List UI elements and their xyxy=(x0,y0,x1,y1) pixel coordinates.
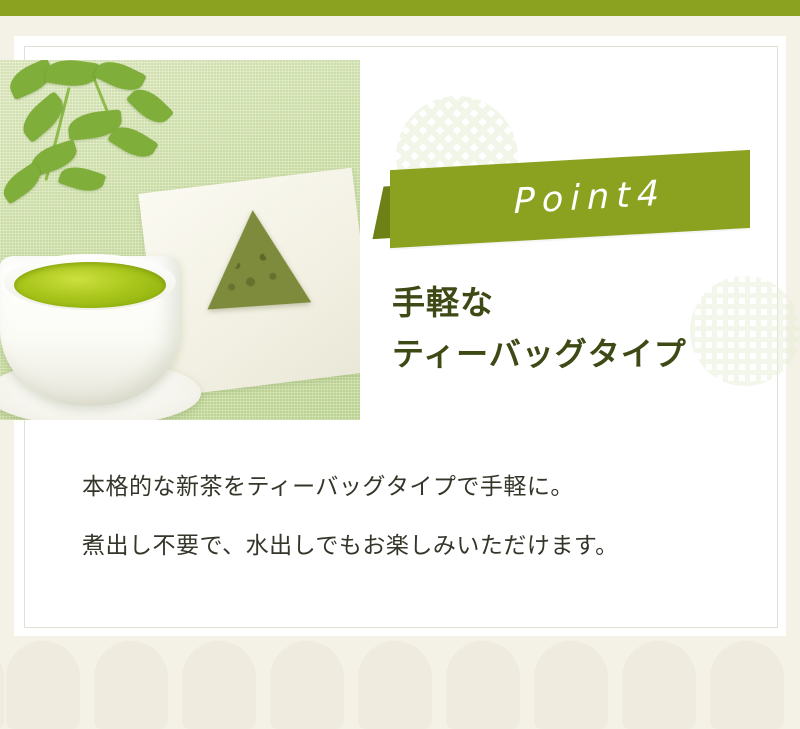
top-accent-bar xyxy=(0,0,800,16)
body-line-1: 本格的な新茶をティーバッグタイプで手軽に。 xyxy=(82,458,762,517)
body-line-2: 煮出し不要で、水出しでもお楽しみいただけます。 xyxy=(82,517,762,576)
headline-line-1: 手軽な xyxy=(392,276,782,329)
headline-line-2: ティーバッグタイプ xyxy=(392,329,782,381)
page-root: Point4 手軽な ティーバッグタイプ 本格的な新茶をティーバッグタイプで手軽… xyxy=(0,0,800,729)
green-tea-liquid xyxy=(14,262,166,308)
headline: 手軽な ティーバッグタイプ xyxy=(392,276,782,381)
product-photo xyxy=(0,60,360,420)
body-copy: 本格的な新茶をティーバッグタイプで手軽に。 煮出し不要で、水出しでもお楽しみいた… xyxy=(82,458,762,575)
scallop-decoration xyxy=(0,636,800,729)
